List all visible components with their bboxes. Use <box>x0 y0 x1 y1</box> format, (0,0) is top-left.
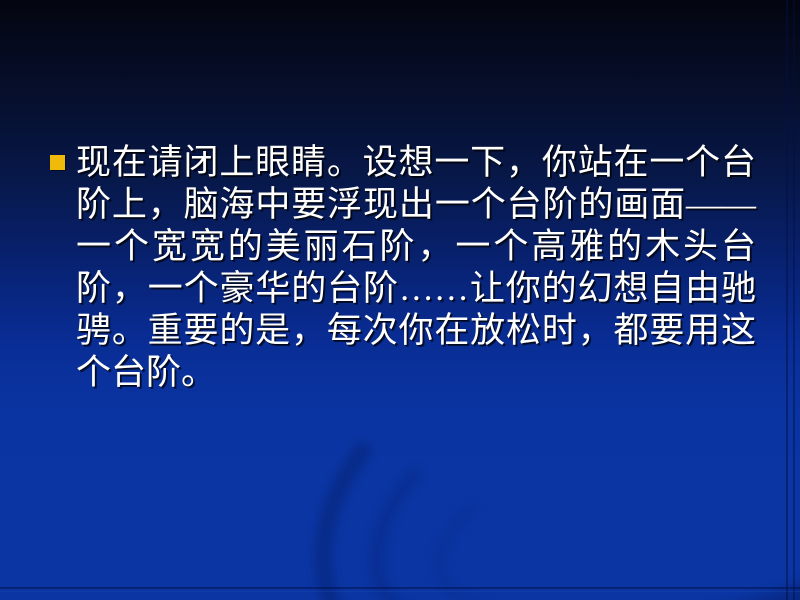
presentation-slide: 现在请闭上眼睛。设想一下，你站在一个台阶上，脑海中要浮现出一个台阶的画面——一个… <box>0 0 800 600</box>
body-paragraph: 现在请闭上眼睛。设想一下，你站在一个台阶上，脑海中要浮现出一个台阶的画面——一个… <box>76 142 756 394</box>
square-bullet-icon <box>50 155 65 170</box>
slide-body-content: 现在请闭上眼睛。设想一下，你站在一个台阶上，脑海中要浮现出一个台阶的画面——一个… <box>50 142 756 394</box>
bottom-divider-line-secondary <box>0 591 800 592</box>
right-edge-line-secondary <box>793 0 795 600</box>
right-edge-line <box>786 0 788 600</box>
swoosh-accent-tertiary-icon <box>418 379 800 600</box>
bottom-divider-line <box>0 587 800 589</box>
